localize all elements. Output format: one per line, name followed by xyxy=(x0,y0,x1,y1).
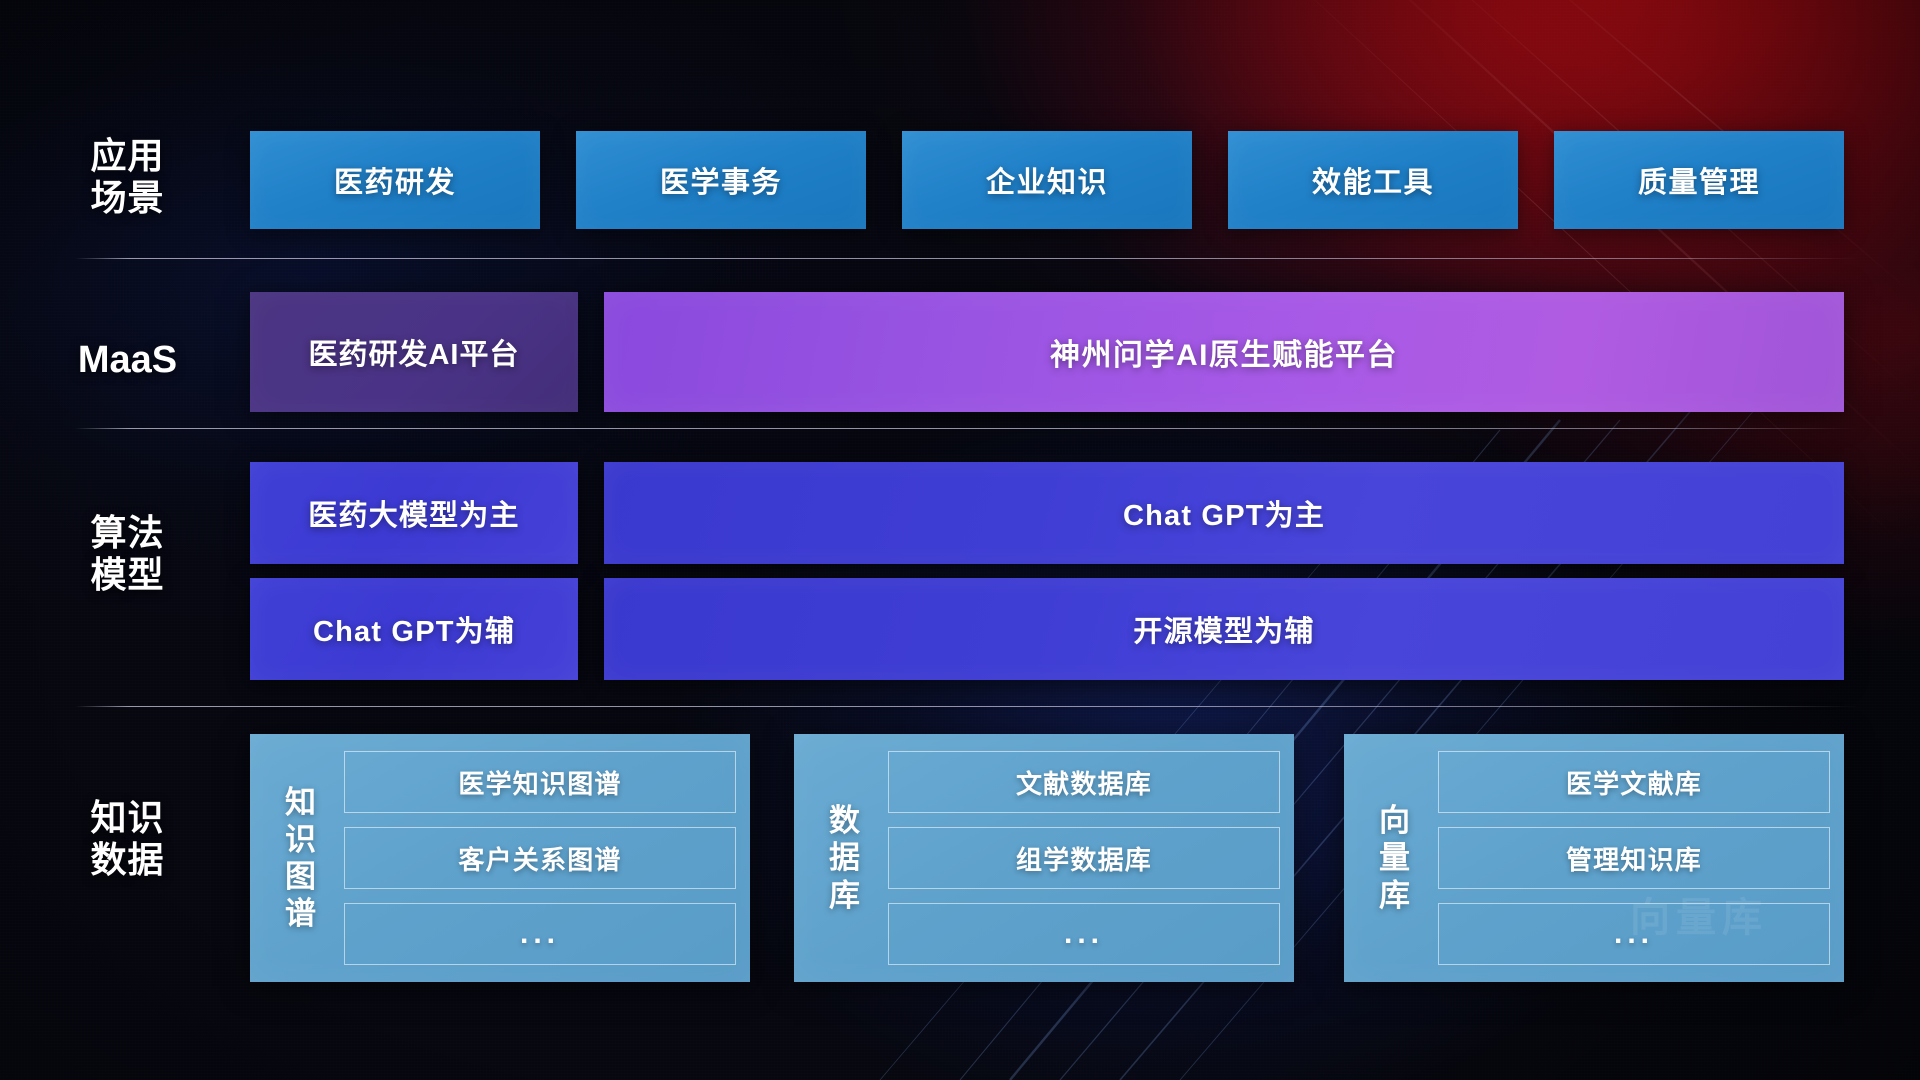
diagram-canvas: 应用 场景 医药研发 医学事务 企业知识 效能工具 质量管理 MaaS 医药研发… xyxy=(0,0,1920,1080)
algo-box-pharma-large-model-primary[interactable]: 医药大模型为主 xyxy=(250,462,578,564)
row-label-knowledge-data: 知识 数据 xyxy=(40,797,215,882)
knowledge-item-more[interactable]: ... xyxy=(344,903,736,965)
app-scenario-label: 医学事务 xyxy=(660,159,782,201)
app-scenario-label: 企业知识 xyxy=(986,159,1108,201)
row-label-line: 算法 xyxy=(40,512,215,554)
row-label-maas: MaaS xyxy=(40,338,215,383)
algo-box-label: Chat GPT为辅 xyxy=(313,608,515,650)
knowledge-panel-database[interactable]: 数 据 库 文献数据库 组学数据库 ... xyxy=(794,734,1294,982)
knowledge-item[interactable]: 客户关系图谱 xyxy=(344,827,736,889)
algo-box-label: 医药大模型为主 xyxy=(308,492,519,534)
vertical-label-char: 库 xyxy=(1366,877,1424,914)
maas-box-pharma-ai-platform[interactable]: 医药研发AI平台 xyxy=(250,292,578,412)
row-label-line: 知识 xyxy=(40,797,215,839)
app-scenario-box-2[interactable]: 医学事务 xyxy=(576,131,866,229)
knowledge-item[interactable]: 管理知识库 xyxy=(1438,827,1830,889)
vertical-label-char: 库 xyxy=(816,877,874,914)
knowledge-item[interactable]: 医学知识图谱 xyxy=(344,751,736,813)
maas-box-label: 神州问学AI原生赋能平台 xyxy=(1050,330,1398,374)
app-scenario-label: 医药研发 xyxy=(334,159,456,201)
vertical-label-char: 向 xyxy=(1366,802,1424,839)
knowledge-panel-vertical-label: 数 据 库 xyxy=(816,802,874,914)
divider-2 xyxy=(75,428,1857,429)
vertical-label-char: 量 xyxy=(1366,839,1424,876)
row-label-line: 模型 xyxy=(40,554,215,596)
row-label-line: 场景 xyxy=(40,177,215,219)
knowledge-item[interactable]: 医学文献库 xyxy=(1438,751,1830,813)
algo-box-label: Chat GPT为主 xyxy=(1123,492,1325,534)
vertical-label-char: 据 xyxy=(816,839,874,876)
maas-box-shenzhou-platform[interactable]: 神州问学AI原生赋能平台 xyxy=(604,292,1844,412)
knowledge-panel-vertical-label: 向 量 库 xyxy=(1366,802,1424,914)
row-label-line: 应用 xyxy=(40,135,215,177)
algo-box-label: 开源模型为辅 xyxy=(1133,608,1314,650)
vertical-label-char: 识 xyxy=(272,821,330,858)
algo-box-chatgpt-secondary[interactable]: Chat GPT为辅 xyxy=(250,578,578,680)
knowledge-item-more[interactable]: ... xyxy=(888,903,1280,965)
algo-box-chatgpt-primary[interactable]: Chat GPT为主 xyxy=(604,462,1844,564)
row-label-line: 数据 xyxy=(40,839,215,881)
vertical-label-char: 图 xyxy=(272,858,330,895)
vertical-label-char: 知 xyxy=(272,784,330,821)
divider-3 xyxy=(75,706,1857,707)
app-scenario-box-1[interactable]: 医药研发 xyxy=(250,131,540,229)
row-label-line: MaaS xyxy=(40,338,215,383)
knowledge-panel-vector-database[interactable]: 向 量 库 医学文献库 管理知识库 ... xyxy=(1344,734,1844,982)
app-scenario-box-4[interactable]: 效能工具 xyxy=(1228,131,1518,229)
knowledge-item-list: 医学知识图谱 客户关系图谱 ... xyxy=(344,751,736,965)
divider-1 xyxy=(75,258,1857,259)
knowledge-item[interactable]: 组学数据库 xyxy=(888,827,1280,889)
app-scenario-box-5[interactable]: 质量管理 xyxy=(1554,131,1844,229)
app-scenario-box-3[interactable]: 企业知识 xyxy=(902,131,1192,229)
knowledge-item[interactable]: 文献数据库 xyxy=(888,751,1280,813)
vertical-label-char: 谱 xyxy=(272,895,330,932)
app-scenario-label: 效能工具 xyxy=(1312,159,1434,201)
knowledge-panel-vertical-label: 知 识 图 谱 xyxy=(272,784,330,933)
app-scenario-label: 质量管理 xyxy=(1638,159,1760,201)
vertical-label-char: 数 xyxy=(816,802,874,839)
knowledge-item-more[interactable]: ... xyxy=(1438,903,1830,965)
algo-box-opensource-secondary[interactable]: 开源模型为辅 xyxy=(604,578,1844,680)
row-label-application-scenarios: 应用 场景 xyxy=(40,135,215,220)
maas-box-label: 医药研发AI平台 xyxy=(308,331,519,373)
knowledge-item-list: 文献数据库 组学数据库 ... xyxy=(888,751,1280,965)
row-label-algorithm-model: 算法 模型 xyxy=(40,512,215,597)
knowledge-panel-knowledge-graph[interactable]: 知 识 图 谱 医学知识图谱 客户关系图谱 ... xyxy=(250,734,750,982)
knowledge-item-list: 医学文献库 管理知识库 ... xyxy=(1438,751,1830,965)
